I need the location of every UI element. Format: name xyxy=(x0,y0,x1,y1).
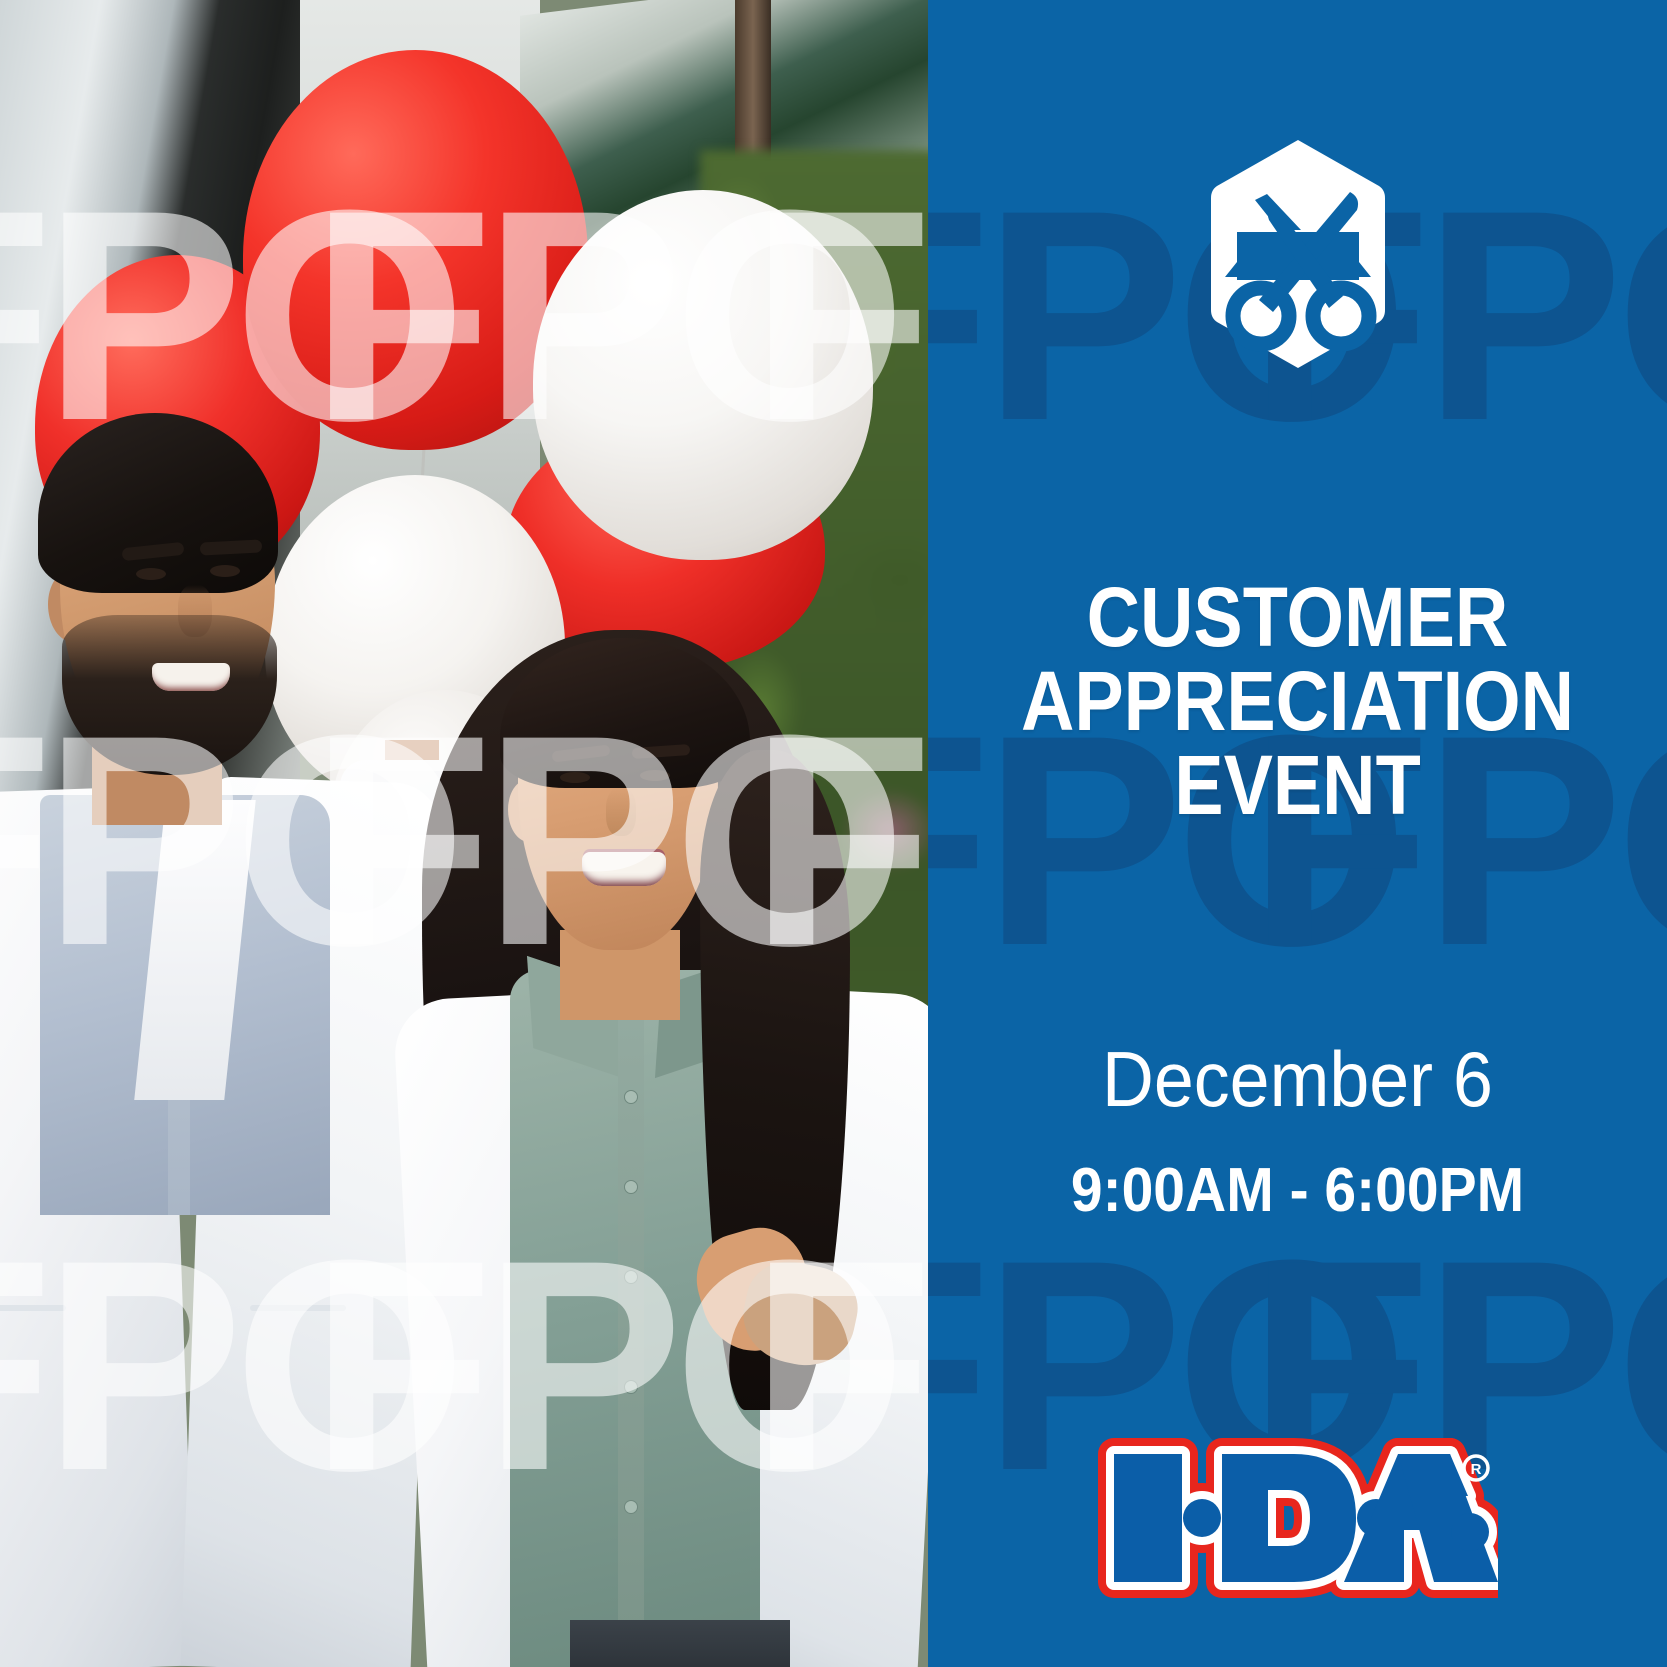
blouse-button xyxy=(624,1270,638,1284)
page-title: CUSTOMER APPRECIATION EVENT xyxy=(972,575,1622,827)
nose xyxy=(606,788,636,836)
eye xyxy=(136,568,166,580)
smile xyxy=(582,852,666,886)
ribbon-cutting-scissors-hexagon-icon xyxy=(1209,138,1387,370)
pharmacist-man xyxy=(0,405,420,1667)
eye xyxy=(210,565,240,577)
blouse-placket xyxy=(618,1020,644,1660)
event-photo xyxy=(0,0,928,1667)
blouse-button xyxy=(624,1180,638,1194)
eye xyxy=(640,770,670,781)
blouse-button xyxy=(624,1380,638,1394)
ida-pharmacy-logo: R xyxy=(1098,1432,1498,1608)
clasped-hands xyxy=(700,1220,860,1370)
coat-pocket xyxy=(250,1305,346,1311)
eye xyxy=(560,772,590,783)
trousers xyxy=(570,1620,790,1667)
smile xyxy=(152,663,230,691)
promotional-poster: FPO FPO FPO FPO FPO FPO xyxy=(0,0,1667,1667)
event-date: December 6 xyxy=(958,1040,1638,1118)
hair xyxy=(38,413,278,593)
event-time: 9:00AM - 6:00PM xyxy=(958,1160,1638,1222)
balloon-white xyxy=(533,190,873,560)
info-panel: FPO FPO FPO FPO FPO FPO xyxy=(928,0,1667,1667)
blouse-button xyxy=(624,1500,638,1514)
headline-line-1: CUSTOMER xyxy=(972,575,1622,659)
coat-pocket xyxy=(0,1305,66,1311)
pharmacist-woman xyxy=(400,620,928,1667)
blouse-button xyxy=(624,1090,638,1104)
headline-line-2: APPRECIATION xyxy=(972,659,1622,743)
headline-line-3: EVENT xyxy=(972,743,1622,827)
svg-text:R: R xyxy=(1470,1461,1481,1478)
